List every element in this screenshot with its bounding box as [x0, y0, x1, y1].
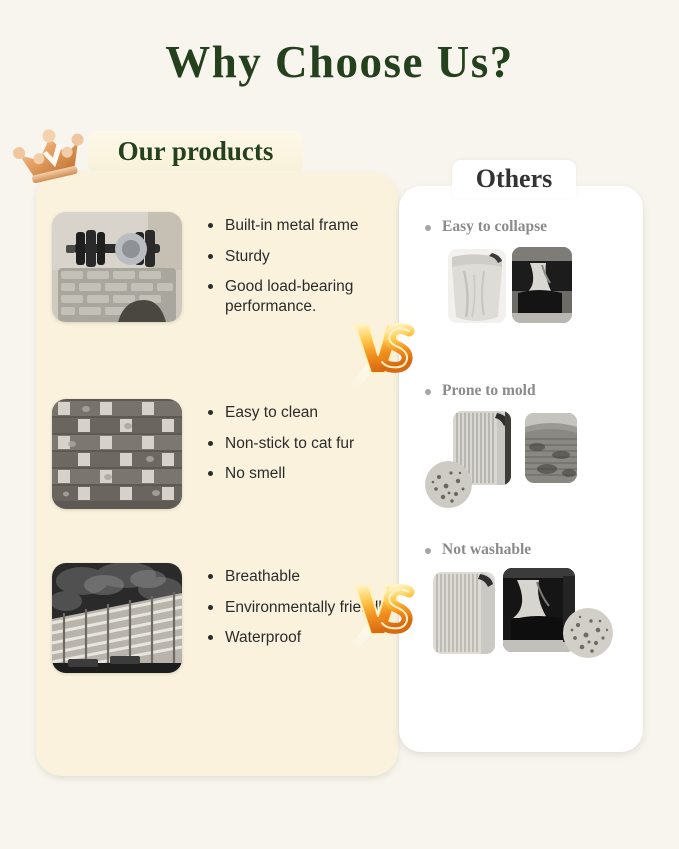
collapsed-dark-cat-house-photo — [512, 247, 572, 323]
others-group-images — [425, 245, 625, 343]
others-group-images — [425, 409, 625, 507]
vs-badge-top — [345, 303, 423, 389]
others-group-label: Prone to mold — [425, 382, 625, 400]
stains-detail-circle — [563, 608, 613, 658]
others-group-label: Easy to collapse — [425, 218, 625, 236]
bullet-item: No smell — [208, 464, 354, 484]
page-title: Why Choose Us? — [0, 36, 679, 88]
breathable-weave-smoke-photo — [52, 563, 182, 673]
bullet-item: Sturdy — [208, 247, 405, 267]
collapsed-fabric-bag-photo — [448, 249, 506, 323]
bullet-item: Built-in metal frame — [208, 216, 405, 236]
our-product-bullets-2: Easy to clean Non-stick to cat fur No sm… — [208, 399, 354, 495]
others-group-2: Prone to mold — [425, 382, 625, 507]
our-products-banner: Our products — [88, 131, 303, 171]
woven-rattan-closeup-photo — [52, 399, 182, 509]
our-product-row-2: Easy to clean Non-stick to cat fur No sm… — [52, 399, 354, 509]
corduroy-mat-photo — [433, 572, 495, 654]
our-products-banner-label: Our products — [118, 136, 274, 167]
moldy-surface-photo — [525, 413, 577, 483]
our-product-row-3: Breathable Environmentally friendly Wate… — [52, 563, 390, 673]
others-banner: Others — [452, 160, 576, 198]
others-banner-label: Others — [476, 164, 553, 194]
dumbbell-on-woven-basket-photo — [52, 212, 182, 322]
mold-spots-detail-circle — [425, 461, 472, 508]
crown-check-icon — [8, 118, 94, 194]
bullet-item: Non-stick to cat fur — [208, 434, 354, 454]
bullet-item: Easy to clean — [208, 403, 354, 423]
others-group-images — [425, 568, 625, 666]
others-group-3: Not washable — [425, 541, 625, 666]
others-group-label: Not washable — [425, 541, 625, 559]
vs-badge-bottom — [345, 564, 423, 650]
others-group-1: Easy to collapse — [425, 218, 625, 343]
